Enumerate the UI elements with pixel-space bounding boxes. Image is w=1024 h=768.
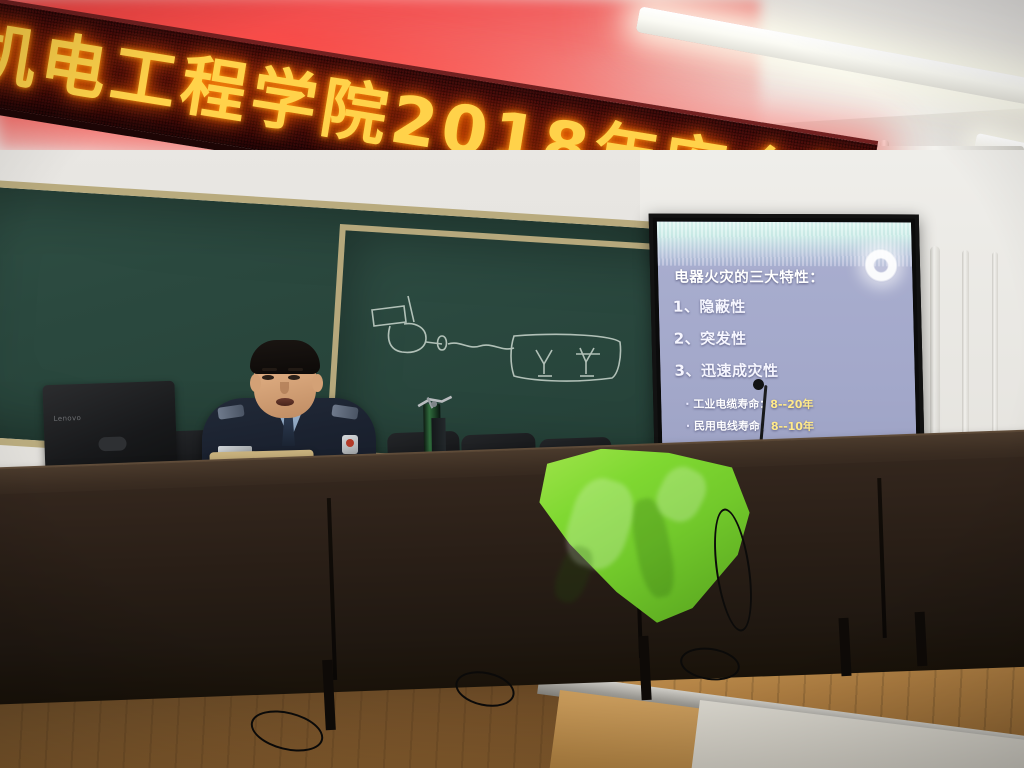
slide-watermark-logo-icon: [864, 248, 899, 282]
podium-front-panel: [0, 456, 1024, 705]
presenter-ear-left: [250, 374, 261, 392]
slide-bullet-1-value: 8--20年: [770, 398, 813, 411]
chalk-drawing-wiring-icon: [368, 292, 628, 422]
slide-item-2-num: 2、: [673, 330, 700, 348]
slide-item-2-label: 突发性: [700, 330, 747, 348]
presenter-hair: [250, 340, 320, 374]
lecture-hall-photo: 机电工程学院2018年安全知识培训: [0, 0, 1024, 768]
slide-title: 电器火灾的三大特性：: [674, 266, 825, 288]
slide-item-3-label: 迅速成灾性: [701, 362, 779, 380]
presenter-brow-left: [262, 368, 277, 371]
slide-item-2: 2、突发性: [673, 328, 746, 349]
presenter-nose: [280, 382, 289, 394]
slide-bullet-1: ·工业电缆寿命：8--20年: [685, 396, 814, 412]
slide-item-1-label: 隐蔽性: [699, 298, 746, 316]
presenter-ear-right: [312, 374, 323, 392]
slide-item-3-num: 3、: [674, 362, 701, 380]
cloth-shadow-2: [549, 542, 598, 607]
slide-item-1: 1、隐蔽性: [673, 296, 746, 317]
slide-item-3: 3、迅速成灾性: [674, 360, 779, 381]
presenter-badge-emblem-icon: [346, 439, 354, 447]
fire-extinguisher-handle-icon: [416, 395, 455, 412]
slide-bullet-2-value: 8--10年: [771, 420, 814, 433]
slide-item-1-num: 1、: [673, 298, 700, 316]
microphone-head-icon: [753, 379, 764, 390]
monitor-brand-label: Lenovo: [53, 414, 81, 423]
slide-bullet-1-label: 工业电缆寿命：: [693, 398, 770, 411]
monitor-stand-boss: [98, 436, 126, 451]
presenter-mouth: [276, 398, 294, 406]
presenter-eye-right: [288, 375, 300, 380]
presenter-brow-right: [288, 368, 303, 371]
slide-bullet-2: ·民用电线寿命：8--10年: [686, 418, 815, 434]
presenter-eye-left: [262, 375, 274, 380]
